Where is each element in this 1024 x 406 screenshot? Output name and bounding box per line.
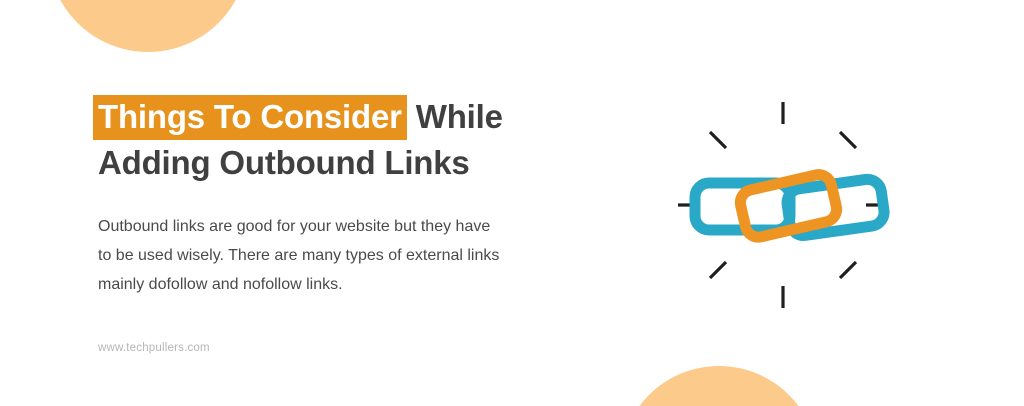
decorative-circle-top-left (48, 0, 248, 52)
body-line-1: Outbound links are good for your website… (98, 212, 568, 241)
ray-top-right (840, 132, 856, 148)
ray-bottom-right (840, 262, 856, 278)
site-url: www.techpullers.com (98, 342, 618, 354)
chain-link-illustration (670, 90, 910, 320)
body-line-2: to be used wisely. There are many types … (98, 241, 568, 270)
decorative-circle-bottom-right (620, 366, 818, 406)
body-line-3: mainly dofollow and nofollow links. (98, 270, 568, 299)
headline-plain-text: While (407, 98, 503, 135)
text-content-block: Things To Consider While Adding Outbound… (98, 96, 618, 354)
page-title: Things To Consider While Adding Outbound… (98, 96, 618, 184)
headline-line-first: Things To Consider While (98, 96, 618, 138)
ray-top-left (710, 132, 726, 148)
ray-bottom-left (710, 262, 726, 278)
body-paragraph: Outbound links are good for your website… (98, 212, 568, 299)
headline-highlight-text: Things To Consider (93, 95, 407, 140)
poster-canvas: Things To Consider While Adding Outbound… (0, 0, 1024, 406)
chain-link-icon (670, 90, 910, 320)
headline-line-second: Adding Outbound Links (98, 142, 618, 184)
